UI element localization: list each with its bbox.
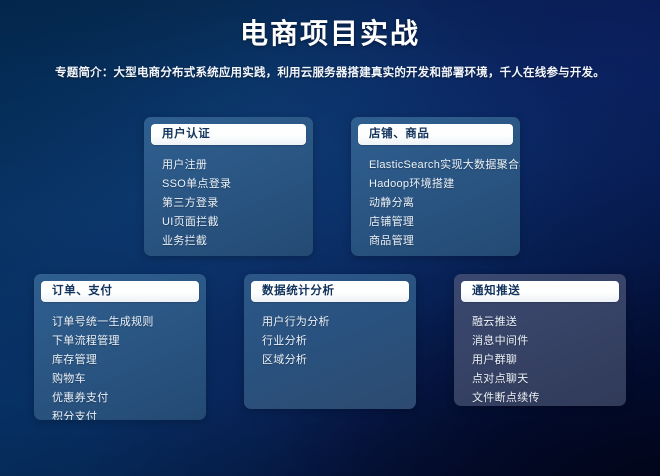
list-item[interactable]: 业务拦截 <box>144 232 313 251</box>
poster-canvas: 电商项目实战 专题简介：大型电商分布式系统应用实践，利用云服务器搭建真实的开发和… <box>0 0 660 476</box>
card-title-data-analysis: 数据统计分析 <box>251 285 335 298</box>
card-header-user-auth: 用户认证 <box>151 124 306 145</box>
list-item[interactable]: 积分支付 <box>34 408 206 420</box>
list-item[interactable]: 用户群聊 <box>454 351 626 370</box>
list-item[interactable]: 点对点聊天 <box>454 370 626 389</box>
card-body-shop-product: ElasticSearch实现大数据聚合检索 Hadoop环境搭建 动静分离 店… <box>351 145 520 251</box>
list-item[interactable]: 区域分析 <box>244 351 416 370</box>
card-header-data-analysis: 数据统计分析 <box>251 281 409 302</box>
list-item[interactable]: 文件断点续传 <box>454 389 626 406</box>
card-body-data-analysis: 用户行为分析 行业分析 区域分析 <box>244 302 416 370</box>
list-item[interactable]: Hadoop环境搭建 <box>351 175 520 194</box>
list-item[interactable]: UI页面拦截 <box>144 213 313 232</box>
card-body-order-payment: 订单号统一生成规则 下单流程管理 库存管理 购物车 优惠券支付 积分支付 第三方… <box>34 302 206 420</box>
list-item[interactable]: 融云推送 <box>454 313 626 332</box>
list-item[interactable]: 用户行为分析 <box>244 313 416 332</box>
list-item[interactable]: 用户注册 <box>144 156 313 175</box>
card-user-auth[interactable]: 用户认证 用户注册 SSO单点登录 第三方登录 UI页面拦截 业务拦截 <box>144 117 313 256</box>
list-item[interactable]: SSO单点登录 <box>144 175 313 194</box>
card-order-payment[interactable]: 订单、支付 订单号统一生成规则 下单流程管理 库存管理 购物车 优惠券支付 积分… <box>34 274 206 420</box>
list-item[interactable]: 购物车 <box>34 370 206 389</box>
list-item[interactable]: 动静分离 <box>351 194 520 213</box>
card-title-shop-product: 店铺、商品 <box>358 128 430 141</box>
card-header-order-payment: 订单、支付 <box>41 281 199 302</box>
list-item[interactable]: 店铺管理 <box>351 213 520 232</box>
list-item[interactable]: 优惠券支付 <box>34 389 206 408</box>
card-body-user-auth: 用户注册 SSO单点登录 第三方登录 UI页面拦截 业务拦截 <box>144 145 313 251</box>
list-item[interactable]: ElasticSearch实现大数据聚合检索 <box>351 156 520 175</box>
list-item[interactable]: 库存管理 <box>34 351 206 370</box>
list-item[interactable]: 商品管理 <box>351 232 520 251</box>
card-title-user-auth: 用户认证 <box>151 128 210 141</box>
card-body-notify-push: 融云推送 消息中间件 用户群聊 点对点聊天 文件断点续传 <box>454 302 626 406</box>
card-title-notify-push: 通知推送 <box>461 285 520 298</box>
list-item[interactable]: 下单流程管理 <box>34 332 206 351</box>
card-shop-product[interactable]: 店铺、商品 ElasticSearch实现大数据聚合检索 Hadoop环境搭建 … <box>351 117 520 256</box>
card-header-shop-product: 店铺、商品 <box>358 124 513 145</box>
poster-subtitle: 专题简介：大型电商分布式系统应用实践，利用云服务器搭建真实的开发和部署环境，千人… <box>0 51 660 81</box>
poster-header: 电商项目实战 专题简介：大型电商分布式系统应用实践，利用云服务器搭建真实的开发和… <box>0 0 660 81</box>
list-item[interactable]: 第三方登录 <box>144 194 313 213</box>
list-item[interactable]: 消息中间件 <box>454 332 626 351</box>
card-title-order-payment: 订单、支付 <box>41 285 113 298</box>
card-notify-push[interactable]: 通知推送 融云推送 消息中间件 用户群聊 点对点聊天 文件断点续传 <box>454 274 626 406</box>
card-data-analysis[interactable]: 数据统计分析 用户行为分析 行业分析 区域分析 <box>244 274 416 409</box>
list-item[interactable]: 订单号统一生成规则 <box>34 313 206 332</box>
page-title: 电商项目实战 <box>0 0 660 51</box>
list-item[interactable]: 行业分析 <box>244 332 416 351</box>
card-header-notify-push: 通知推送 <box>461 281 619 302</box>
